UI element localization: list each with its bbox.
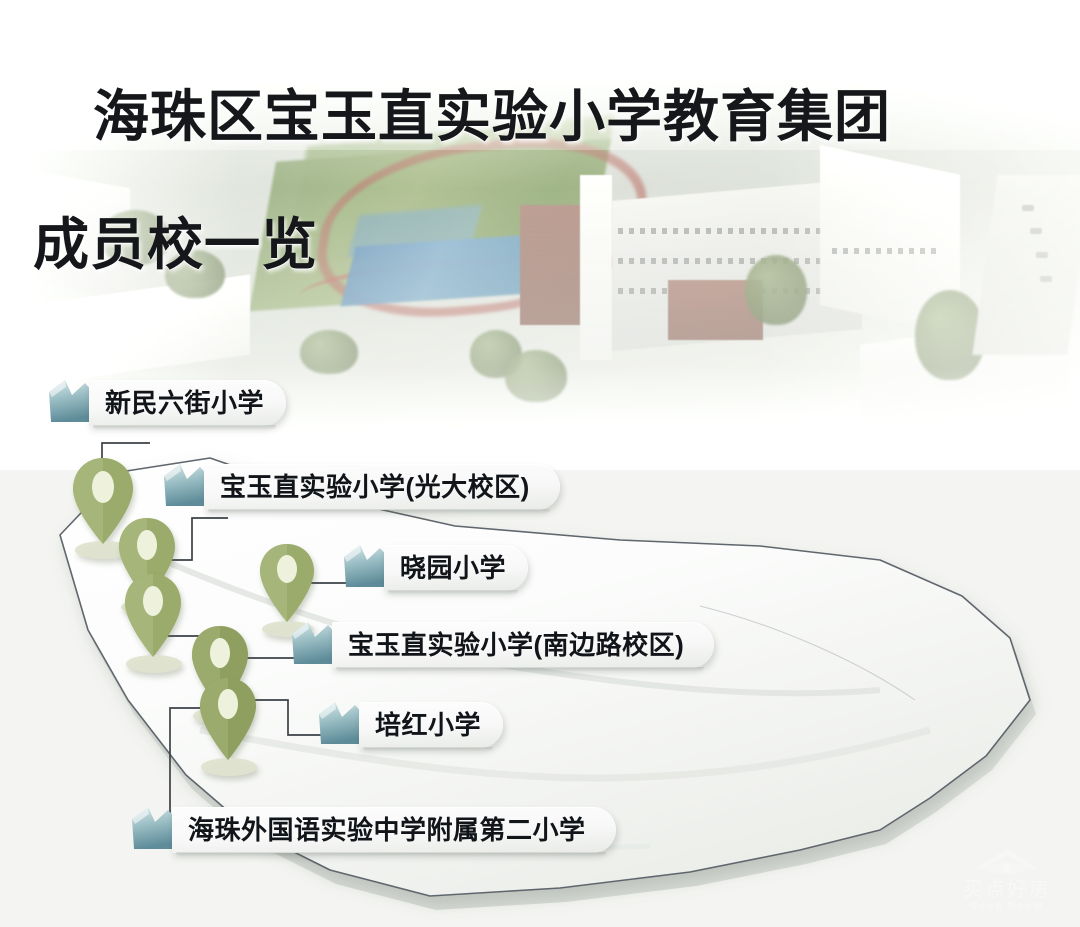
label-plate-2: 宝玉直实验小学(光大校区) (204, 464, 560, 510)
page-title-line-1: 海珠区宝玉直实验小学教育集团 (93, 87, 891, 149)
school-label-2[interactable]: 宝玉直实验小学(光大校区) (160, 462, 560, 512)
page-title: 海珠区宝玉直实验小学教育集团 成员校一览 (33, 22, 891, 406)
house-eye-logo-icon (974, 847, 1040, 877)
infographic-root: 海珠区宝玉直实验小学教育集团 成员校一览 (0, 0, 1080, 927)
school-name-3: 晓园小学 (400, 555, 506, 581)
page-title-line-2: 成员校一览 (33, 214, 891, 278)
school-label-3[interactable]: 晓园小学 (340, 543, 528, 593)
school-name-5: 培红小学 (375, 712, 481, 738)
label-plate-5: 培红小学 (359, 702, 503, 748)
watermark-text-cn: 买点好房 (948, 879, 1066, 901)
school-label-4[interactable]: 宝玉直实验小学(南边路校区) (288, 620, 714, 670)
school-name-4: 宝玉直实验小学(南边路校区) (348, 632, 684, 658)
school-name-2: 宝玉直实验小学(光大校区) (220, 474, 530, 500)
label-plate-4: 宝玉直实验小学(南边路校区) (332, 622, 714, 668)
watermark-text-en: Good Room (948, 901, 1066, 913)
school-label-5[interactable]: 培红小学 (315, 700, 503, 750)
school-label-6[interactable]: 海珠外国语实验中学附属第二小学 (128, 805, 616, 855)
label-plate-3: 晓园小学 (384, 545, 528, 591)
label-plate-6: 海珠外国语实验中学附属第二小学 (172, 807, 616, 853)
map-pin-3[interactable] (118, 568, 188, 674)
watermark: 买点好房 Good Room (948, 847, 1066, 913)
school-name-6: 海珠外国语实验中学附属第二小学 (188, 817, 586, 843)
map-pin-6[interactable] (192, 672, 264, 776)
